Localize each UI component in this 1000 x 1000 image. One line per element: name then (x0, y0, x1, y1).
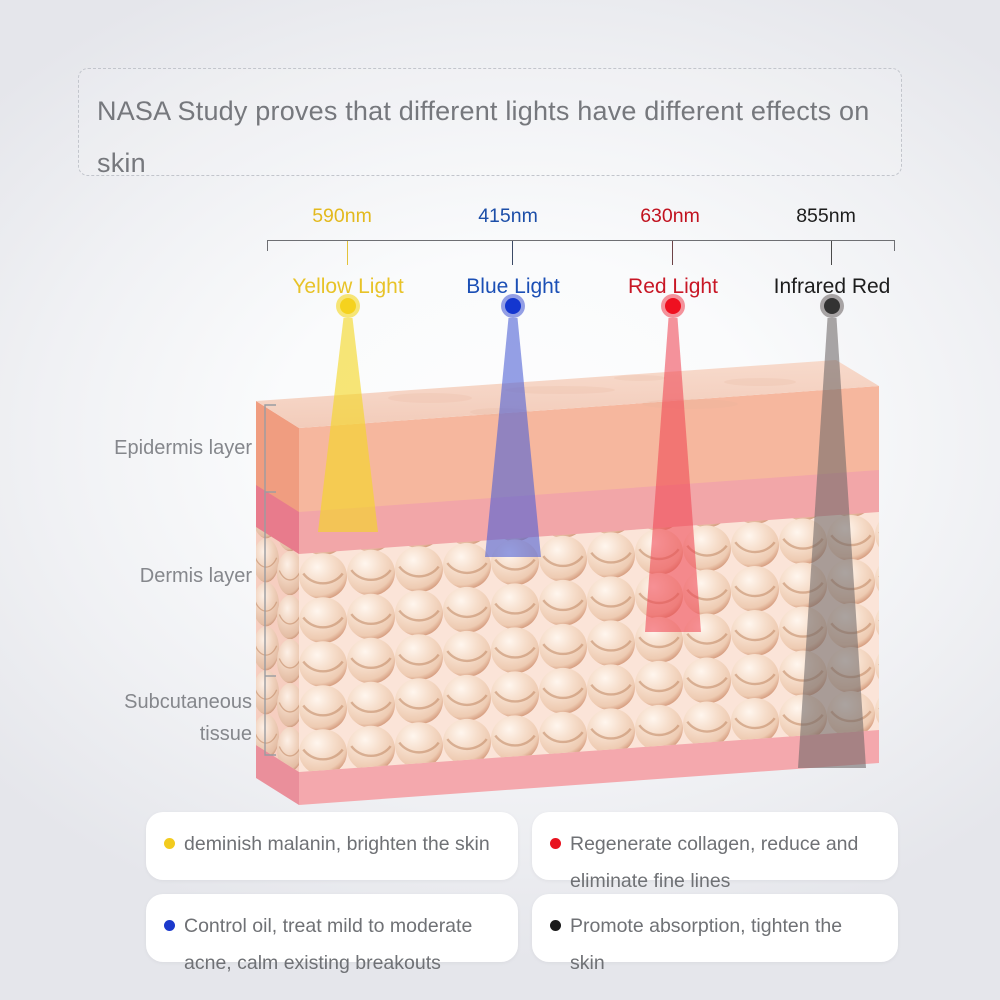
caption-text-infrared: Promote absorption, tighten the skin (570, 908, 882, 982)
layer-label-epidermis: Epidermis layer (60, 432, 252, 464)
caption-bullet-yellow-icon (164, 838, 175, 849)
caption-card-yellow: deminish malanin, brighten the skin (146, 812, 518, 880)
caption-card-infrared: Promote absorption, tighten the skin (532, 894, 898, 962)
light-beam-infrared (798, 318, 866, 768)
caption-text-red: Regenerate collagen, reduce and eliminat… (570, 826, 882, 900)
light-beam-blue (485, 318, 541, 557)
layer-label-dermis: Dermis layer (60, 560, 252, 592)
light-beam-red (645, 318, 701, 632)
caption-bullet-black-icon (550, 920, 561, 931)
emitter-dot-blue (505, 298, 521, 314)
light-beam-yellow (318, 318, 378, 532)
caption-bullet-red-icon (550, 838, 561, 849)
caption-text-yellow: deminish malanin, brighten the skin (184, 826, 502, 863)
emitter-dot-infrared (824, 298, 840, 314)
caption-card-blue: Control oil, treat mild to moderate acne… (146, 894, 518, 962)
emitter-dot-yellow (340, 298, 356, 314)
layer-label-subcutaneous: Subcutaneous tissue (40, 686, 252, 750)
caption-card-red: Regenerate collagen, reduce and eliminat… (532, 812, 898, 880)
emitter-dot-red (665, 298, 681, 314)
caption-text-blue: Control oil, treat mild to moderate acne… (184, 908, 502, 982)
layer-bracket (262, 404, 276, 756)
infographic-canvas: NASA Study proves that different lights … (0, 0, 1000, 1000)
caption-bullet-blue-icon (164, 920, 175, 931)
